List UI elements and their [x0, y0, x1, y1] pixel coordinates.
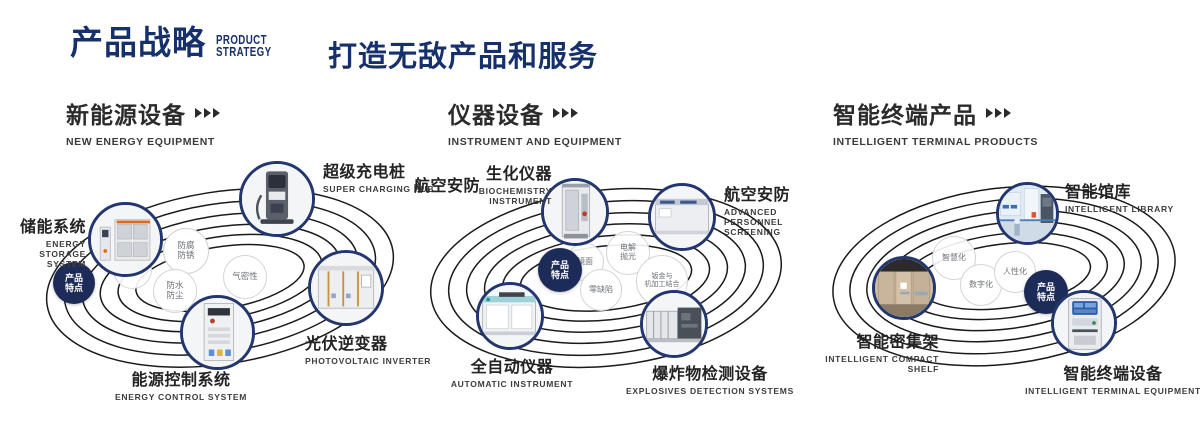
brand-title-cn: 产品战略 — [70, 26, 206, 59]
section-heading-instrument: 仪器设备 INSTRUMENT AND EQUIPMENT — [448, 96, 622, 148]
smart-kiosk-icon — [1054, 293, 1114, 353]
section-heading-intelligent-terminal: 智能终端产品 INTELLIGENT TERMINAL PRODUCTS — [833, 96, 1038, 148]
label-intelligent-terminal-equipment: 智能终端设备 INTELLIGENT TERMINAL EQUIPMENT — [1023, 360, 1200, 396]
product-strategy-infographic: 产品战略 PRODUCT STRATEGY 打造无敌产品和服务 新能源设备 NE… — [0, 0, 1200, 422]
section-heading-en: INTELLIGENT TERMINAL PRODUCTS — [833, 136, 1038, 148]
bubble-line1: 零缺陷 — [589, 286, 613, 295]
label-cn: 爆炸物检测设备 — [615, 360, 805, 384]
core-line2: 特点 — [1037, 292, 1055, 302]
feature-bubble-zerodefect: 零缺陷 — [580, 269, 622, 311]
cluster-intelligent-terminal: 智慧化 数字化 人性化 产品 特点 — [808, 150, 1200, 410]
cluster-new-energy: 防腐 防腐 防锈 户外 气密性 防水 防尘 产品 特点 — [20, 150, 420, 410]
feature-bubble-airtight: 气密性 — [223, 255, 267, 299]
bubble-line2: 防尘 — [166, 291, 183, 301]
label-en: INTELLIGENT TERMINAL EQUIPMENT — [1023, 386, 1200, 396]
page-title: 产品战略 PRODUCT STRATEGY — [70, 26, 287, 59]
node-intelligent-terminal-equipment[interactable] — [1051, 290, 1117, 356]
label-en: ENERGY STORAGE SYSTEM — [0, 239, 86, 269]
label-biochemistry-instrument: 生化仪器 BIOCHEMISTRY INSTRUMENT — [442, 160, 552, 206]
section-heading-en: NEW ENERGY EQUIPMENT — [66, 136, 220, 148]
bubble-line1: 气密性 — [232, 272, 258, 282]
label-en: INTELLIGENT COMPACT SHELF — [794, 354, 939, 374]
core-line1: 产品 — [65, 273, 83, 283]
headline-text: 打造无敌产品和服务 — [328, 33, 598, 75]
core-badge-product-features: 产品 特点 — [538, 248, 582, 292]
bubble-line2: 机加工结合 — [645, 281, 680, 289]
label-cn: 全自动仪器 — [442, 353, 582, 377]
bubble-line2: 防锈 — [177, 251, 194, 261]
label-intelligent-compact-shelf: 智能密集架 INTELLIGENT COMPACT SHELF — [794, 328, 939, 374]
core-line1: 产品 — [1037, 282, 1055, 292]
label-energy-storage-system: 储能系统 ENERGY STORAGE SYSTEM — [0, 213, 86, 269]
core-line1: 产品 — [551, 260, 569, 270]
control-cabinet-icon — [183, 298, 252, 367]
explosives-detector-icon — [643, 293, 705, 355]
compact-shelf-icon — [875, 259, 933, 317]
core-line2: 特点 — [65, 283, 83, 293]
battery-cabinet-icon — [91, 205, 160, 274]
node-intelligent-compact-shelf[interactable] — [872, 256, 936, 320]
label-en: EXPLOSIVES DETECTION SYSTEMS — [615, 386, 805, 396]
section-heading-en: INSTRUMENT AND EQUIPMENT — [448, 136, 622, 148]
section-heading-cn: 仪器设备 — [448, 96, 544, 130]
brand-title-en: PRODUCT STRATEGY — [216, 34, 271, 58]
section-heading-new-energy: 新能源设备 NEW ENERGY EQUIPMENT — [66, 96, 220, 148]
label-automatic-instrument: 全自动仪器 AUTOMATIC INSTRUMENT — [442, 353, 582, 389]
chevron-right-icon — [195, 108, 220, 118]
smart-library-icon — [999, 185, 1056, 242]
node-intelligent-library[interactable] — [996, 182, 1059, 245]
node-energy-storage-system[interactable] — [88, 202, 163, 277]
label-cn: 能源控制系统 — [86, 366, 276, 390]
section-heading-cn: 新能源设备 — [66, 96, 186, 130]
brand-en-line2: STRATEGY — [216, 45, 271, 59]
bubble-line1: 人性化 — [1003, 268, 1027, 277]
label-cn: 储能系统 — [0, 213, 86, 237]
bubble-line1: 智慧化 — [942, 254, 966, 263]
node-automatic-instrument[interactable] — [476, 282, 544, 350]
node-photovoltaic-inverter[interactable] — [308, 250, 384, 326]
label-en: ENERGY CONTROL SYSTEM — [86, 392, 276, 402]
label-cn: 生化仪器 — [442, 160, 552, 184]
node-explosives-detection[interactable] — [640, 290, 708, 358]
node-super-charging-hub[interactable] — [239, 161, 315, 237]
bubble-line1: 数字化 — [969, 281, 993, 290]
label-explosives-detection: 爆炸物检测设备 EXPLOSIVES DETECTION SYSTEMS — [615, 360, 805, 396]
charging-pile-icon — [242, 164, 312, 234]
cluster-instrument: 镜面 电解 抛光 钣金与 机加工结合 零缺陷 产品 特点 航空安防 — [408, 150, 808, 410]
bubble-line2: 抛光 — [620, 253, 636, 262]
chevron-right-icon — [553, 108, 578, 118]
node-advanced-personnel-screening[interactable] — [648, 183, 716, 251]
label-cn: 智能密集架 — [794, 328, 939, 352]
label-cn: 智能馆库 — [1065, 178, 1185, 202]
inverter-cabinet-icon — [311, 253, 381, 323]
bubble-line1: 钣金与 — [652, 273, 673, 281]
label-intelligent-library: 智能馆库 INTELLIGENT LIBRARY — [1065, 178, 1185, 214]
label-cn: 智能终端设备 — [1023, 360, 1200, 384]
label-en: INTELLIGENT LIBRARY — [1065, 204, 1185, 214]
automatic-instrument-icon — [479, 285, 541, 347]
section-heading-cn: 智能终端产品 — [833, 96, 977, 130]
biochemistry-scanner-icon — [544, 181, 606, 243]
label-en: AUTOMATIC INSTRUMENT — [442, 379, 582, 389]
core-line2: 特点 — [551, 270, 569, 280]
feature-bubble-fangfu: 防腐 防锈 — [163, 228, 209, 274]
label-en: BIOCHEMISTRY INSTRUMENT — [442, 186, 552, 206]
node-energy-control-system[interactable] — [180, 295, 255, 370]
screening-machine-icon — [651, 186, 713, 248]
label-energy-control-system: 能源控制系统 ENERGY CONTROL SYSTEM — [86, 366, 276, 402]
chevron-right-icon — [986, 108, 1011, 118]
